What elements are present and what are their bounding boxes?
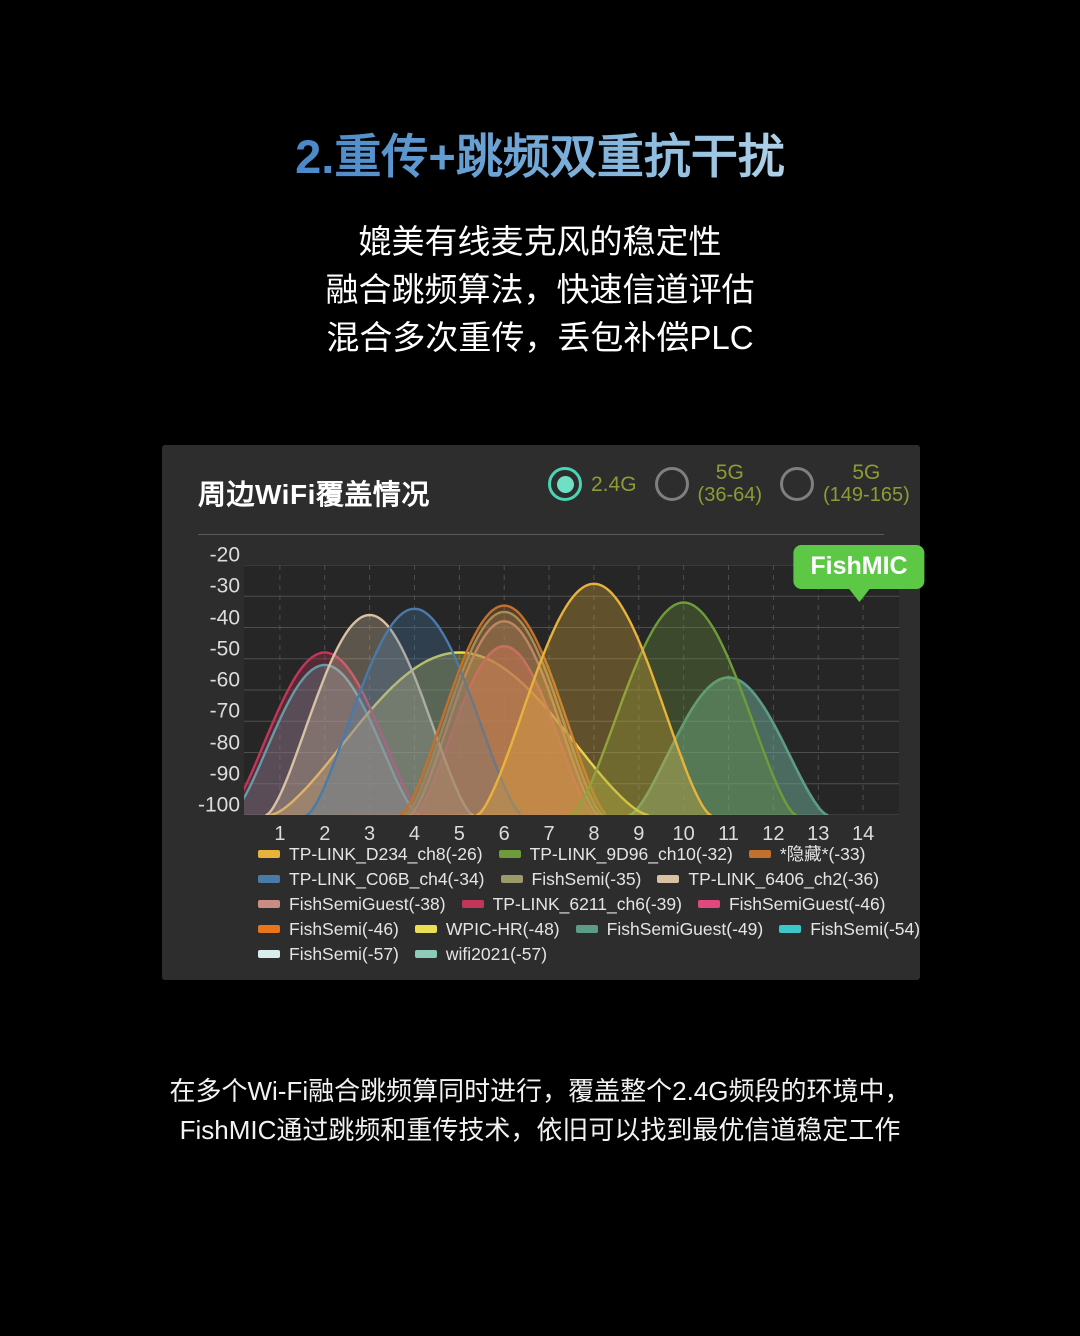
- legend-item[interactable]: *隐藏*(-33): [749, 845, 866, 863]
- y-axis-tick: -100: [198, 795, 240, 816]
- y-axis-tick: -40: [210, 607, 240, 628]
- x-axis-tick: 13: [807, 824, 829, 844]
- legend-color-swatch: [258, 875, 280, 883]
- band-label-line2: (36-64): [698, 484, 762, 507]
- panel-title: 周边WiFi覆盖情况: [198, 473, 430, 513]
- legend-row: FishSemi(-46)WPIC-HR(-48)FishSemiGuest(-…: [258, 920, 898, 938]
- legend-item[interactable]: WPIC-HR(-48): [415, 920, 560, 938]
- band-label-line1: 5G: [852, 461, 880, 484]
- legend-label: TP-LINK_C06B_ch4(-34): [289, 870, 485, 888]
- legend-item[interactable]: FishSemi(-57): [258, 945, 399, 963]
- wifi-chart: FishMIC -20-30-40-50-60-70-80-90-100 123…: [162, 541, 920, 841]
- band-label-2_4g: 2.4G: [591, 473, 637, 496]
- x-axis-tick: 9: [633, 824, 644, 844]
- legend-label: wifi2021(-57): [446, 945, 547, 963]
- band-label-line1: 5G: [716, 461, 744, 484]
- x-axis-tick: 4: [409, 824, 420, 844]
- x-axis-tick: 11: [718, 824, 739, 844]
- panel-header: 周边WiFi覆盖情况 2.4G 5G (36-64): [162, 445, 920, 535]
- legend-color-swatch: [258, 950, 280, 958]
- caption-line-2: FishMIC通过跳频和重传技术，依旧可以找到最优信道稳定工作: [0, 1111, 1080, 1150]
- legend-label: WPIC-HR(-48): [446, 920, 560, 938]
- legend-item[interactable]: FishSemi(-35): [501, 870, 642, 888]
- x-axis-tick: 6: [499, 824, 510, 844]
- y-axis-tick: -80: [210, 732, 240, 753]
- x-axis-tick: 14: [852, 824, 874, 844]
- legend-color-swatch: [501, 875, 523, 883]
- legend-label: TP-LINK_D234_ch8(-26): [289, 845, 483, 863]
- y-axis-tick: -20: [210, 545, 240, 566]
- legend-color-swatch: [499, 850, 521, 858]
- legend-item[interactable]: TP-LINK_6211_ch6(-39): [462, 895, 682, 913]
- legend-color-swatch: [698, 900, 720, 908]
- legend-row: FishSemiGuest(-38)TP-LINK_6211_ch6(-39)F…: [258, 895, 898, 913]
- subtitle-line-2: 融合跳频算法，快速信道评估: [0, 266, 1080, 314]
- legend-label: FishSemiGuest(-46): [729, 895, 886, 913]
- x-axis-tick: 3: [364, 824, 375, 844]
- x-axis-tick: 10: [673, 824, 695, 844]
- legend-item[interactable]: TP-LINK_C06B_ch4(-34): [258, 870, 485, 888]
- legend-item[interactable]: FishSemi(-46): [258, 920, 399, 938]
- legend-color-swatch: [258, 900, 280, 908]
- band-label-5g-low: 5G (36-64): [698, 461, 762, 507]
- chart-svg: [244, 565, 899, 815]
- band-label-line2: (149-165): [823, 484, 910, 507]
- legend-color-swatch: [415, 925, 437, 933]
- legend-color-swatch: [415, 950, 437, 958]
- legend-item[interactable]: FishSemiGuest(-49): [576, 920, 764, 938]
- subtitle-line-1: 媲美有线麦克风的稳定性: [0, 218, 1080, 266]
- legend-item[interactable]: FishSemiGuest(-38): [258, 895, 446, 913]
- radio-icon-selected[interactable]: [548, 467, 582, 501]
- chart-legend: TP-LINK_D234_ch8(-26)TP-LINK_9D96_ch10(-…: [258, 845, 898, 970]
- band-option-2_4g[interactable]: 2.4G: [548, 467, 637, 501]
- band-label-line1: 2.4G: [591, 473, 637, 496]
- x-axis-tick: 1: [274, 824, 285, 844]
- y-axis-tick: -50: [210, 638, 240, 659]
- legend-label: FishSemi(-46): [289, 920, 399, 938]
- legend-color-swatch: [462, 900, 484, 908]
- x-axis-tick: 5: [454, 824, 465, 844]
- legend-color-swatch: [657, 875, 679, 883]
- legend-label: *隐藏*(-33): [780, 845, 866, 863]
- legend-item[interactable]: TP-LINK_D234_ch8(-26): [258, 845, 483, 863]
- x-axis-tick: 7: [544, 824, 555, 844]
- band-label-5g-high: 5G (149-165): [823, 461, 910, 507]
- x-axis-tick: 2: [319, 824, 330, 844]
- legend-label: FishSemiGuest(-38): [289, 895, 446, 913]
- legend-label: TP-LINK_6211_ch6(-39): [493, 895, 682, 913]
- legend-item[interactable]: FishSemi(-54): [779, 920, 920, 938]
- plot-area: [244, 565, 899, 815]
- legend-label: FishSemi(-57): [289, 945, 399, 963]
- legend-color-swatch: [779, 925, 801, 933]
- legend-item[interactable]: TP-LINK_6406_ch2(-36): [657, 870, 879, 888]
- fishmic-callout: FishMIC: [793, 545, 924, 589]
- band-option-5g-low[interactable]: 5G (36-64): [655, 461, 762, 507]
- y-axis-tick: -60: [210, 670, 240, 691]
- legend-item[interactable]: wifi2021(-57): [415, 945, 547, 963]
- caption-block: 在多个Wi-Fi融合跳频算同时进行，覆盖整个2.4G频段的环境中， FishMI…: [0, 1072, 1080, 1150]
- legend-row: TP-LINK_D234_ch8(-26)TP-LINK_9D96_ch10(-…: [258, 845, 898, 863]
- y-axis-tick: -90: [210, 763, 240, 784]
- legend-row: FishSemi(-57)wifi2021(-57): [258, 945, 898, 963]
- legend-color-swatch: [258, 925, 280, 933]
- legend-item[interactable]: FishSemiGuest(-46): [698, 895, 886, 913]
- y-axis-tick: -70: [210, 701, 240, 722]
- legend-label: TP-LINK_6406_ch2(-36): [688, 870, 879, 888]
- y-axis-tick: -30: [210, 576, 240, 597]
- legend-color-swatch: [749, 850, 771, 858]
- header-divider: [198, 534, 884, 535]
- radio-icon-unselected[interactable]: [780, 467, 814, 501]
- page-root: 2.重传+跳频双重抗干扰 媲美有线麦克风的稳定性 融合跳频算法，快速信道评估 混…: [0, 0, 1080, 1336]
- caption-line-1: 在多个Wi-Fi融合跳频算同时进行，覆盖整个2.4G频段的环境中，: [0, 1072, 1080, 1111]
- subtitle-block: 媲美有线麦克风的稳定性 融合跳频算法，快速信道评估 混合多次重传，丢包补偿PLC: [0, 218, 1080, 362]
- subtitle-line-3: 混合多次重传，丢包补偿PLC: [0, 314, 1080, 362]
- legend-label: TP-LINK_9D96_ch10(-32): [530, 845, 733, 863]
- band-selector: 2.4G 5G (36-64) 5G (149-165): [548, 461, 928, 507]
- legend-row: TP-LINK_C06B_ch4(-34)FishSemi(-35)TP-LIN…: [258, 870, 898, 888]
- wifi-coverage-panel: 周边WiFi覆盖情况 2.4G 5G (36-64): [162, 445, 920, 980]
- radio-icon-unselected[interactable]: [655, 467, 689, 501]
- x-axis-tick: 8: [588, 824, 599, 844]
- legend-color-swatch: [258, 850, 280, 858]
- legend-color-swatch: [576, 925, 598, 933]
- legend-label: FishSemi(-35): [532, 870, 642, 888]
- legend-item[interactable]: TP-LINK_9D96_ch10(-32): [499, 845, 733, 863]
- page-title: 2.重传+跳频双重抗干扰: [0, 118, 1080, 187]
- legend-label: FishSemi(-54): [810, 920, 920, 938]
- x-axis-tick: 12: [762, 824, 784, 844]
- legend-label: FishSemiGuest(-49): [607, 920, 764, 938]
- band-option-5g-high[interactable]: 5G (149-165): [780, 461, 910, 507]
